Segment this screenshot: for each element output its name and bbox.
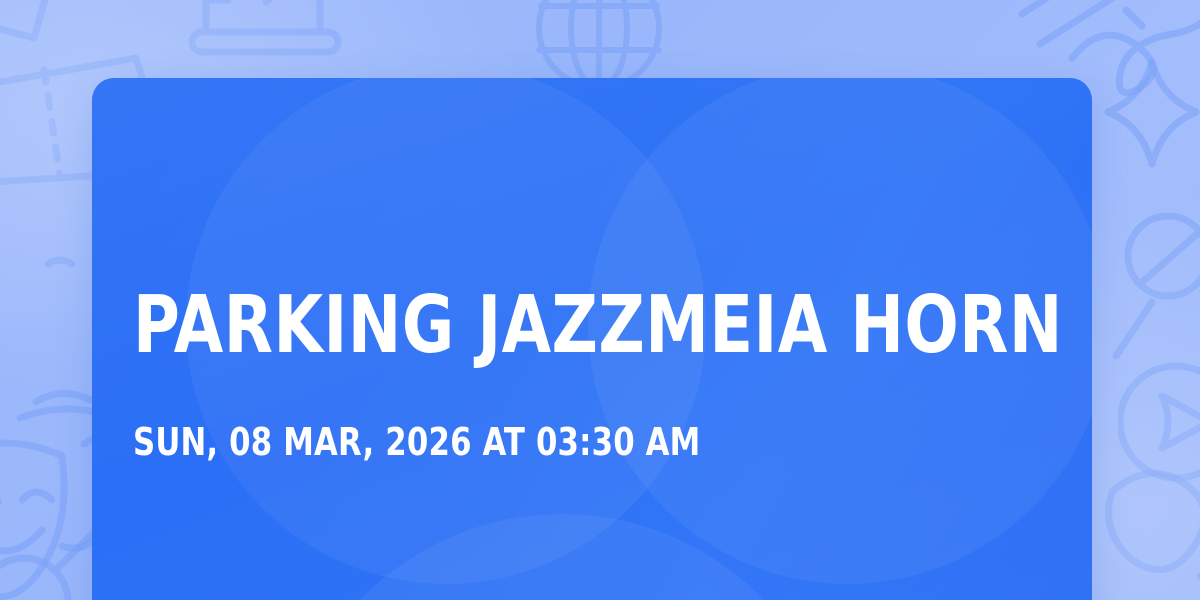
event-title: Parking Jazzmeia Horn <box>133 281 1063 369</box>
stage-light-icon <box>0 0 92 96</box>
event-card: Parking Jazzmeia Horn Sun, 08 Mar, 2026 … <box>92 78 1092 600</box>
sparkle-icon <box>1016 0 1156 68</box>
card-content: Parking Jazzmeia Horn Sun, 08 Mar, 2026 … <box>133 78 1052 600</box>
microphone-icon <box>1108 210 1200 360</box>
sparkle-icon <box>1096 54 1200 174</box>
drum-icon <box>170 0 370 86</box>
event-banner: Parking Jazzmeia Horn Sun, 08 Mar, 2026 … <box>0 0 1200 600</box>
event-datetime: Sun, 08 Mar, 2026 at 03:30 AM <box>133 419 700 465</box>
play-circle-icon <box>1118 362 1200 502</box>
air-balloon-icon <box>1104 458 1200 600</box>
